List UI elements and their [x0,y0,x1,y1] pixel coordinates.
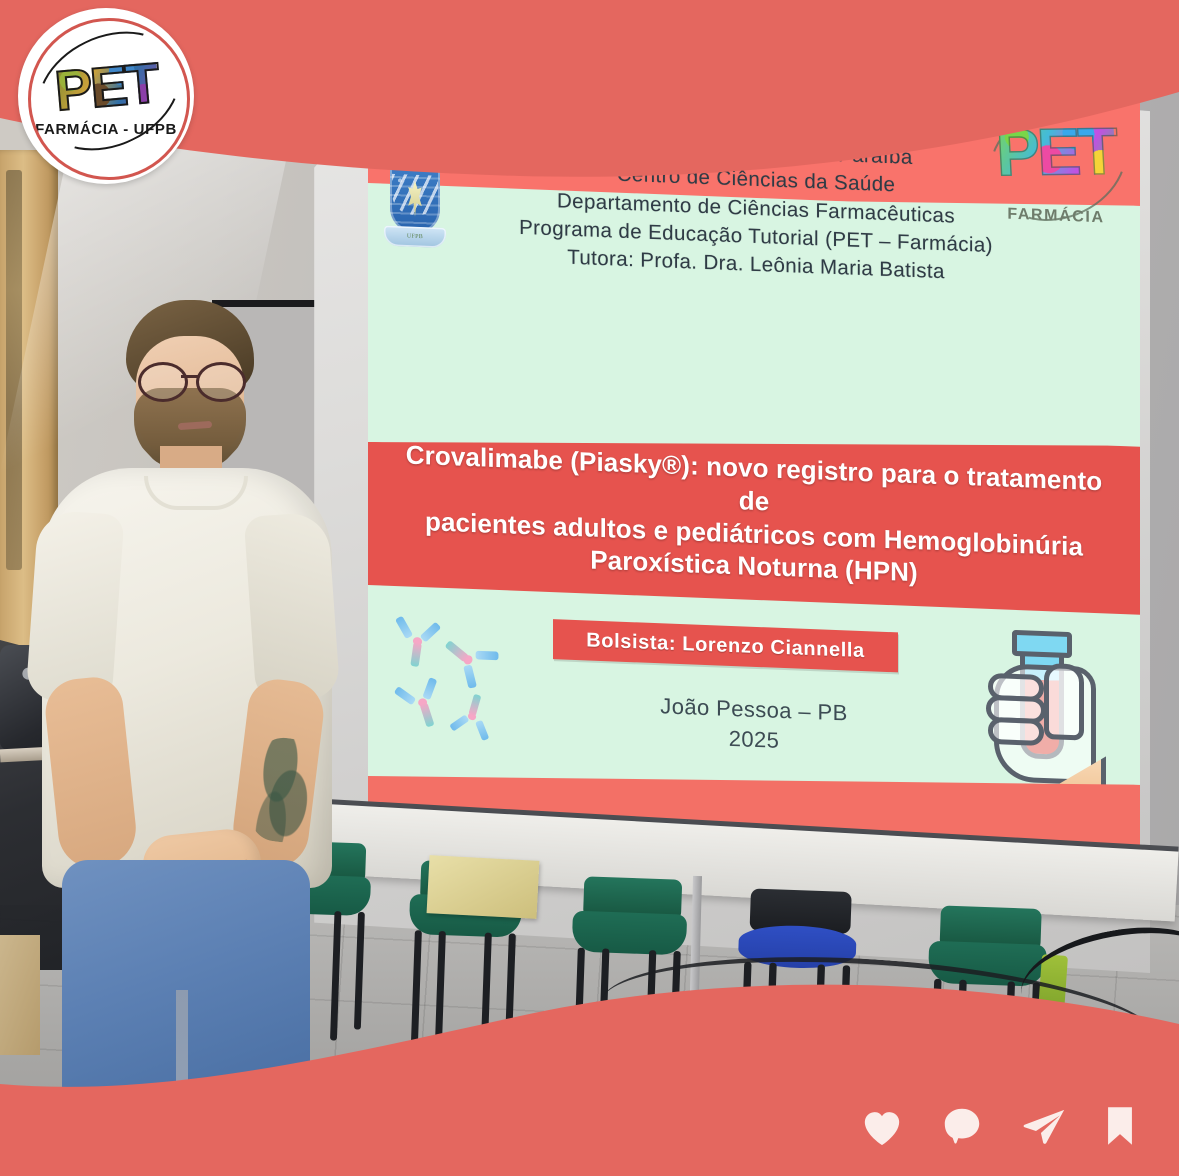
projected-slide: MEC SECRETARIA DE EDUCAÇÃO SUPERIOR [368,65,1140,855]
crest-base: UFPB [384,226,446,248]
presenter-person [18,300,348,1176]
share-icon[interactable] [1019,1104,1069,1148]
comment-icon[interactable] [939,1104,985,1148]
social-action-bar[interactable] [859,1104,1137,1148]
sleeve [25,509,124,705]
instagram-post-image: MEC SECRETARIA DE EDUCAÇÃO SUPERIOR [0,0,1179,1176]
slide-surface: MEC SECRETARIA DE EDUCAÇÃO SUPERIOR [368,65,1140,855]
badge-logo-text: PET [52,54,159,119]
pet-farmacia-badge: PET FARMÁCIA - UFPB [18,8,194,184]
cardboard-box [427,855,540,919]
like-icon[interactable] [859,1105,905,1147]
test-tube-cap [1012,630,1072,658]
crest-caption: UFPB [384,226,446,248]
scholar-name-label: Bolsista: Lorenzo Ciannella [586,629,864,663]
eyeglasses-icon [134,362,250,396]
sleeve [244,511,341,702]
save-icon[interactable] [1103,1104,1137,1148]
